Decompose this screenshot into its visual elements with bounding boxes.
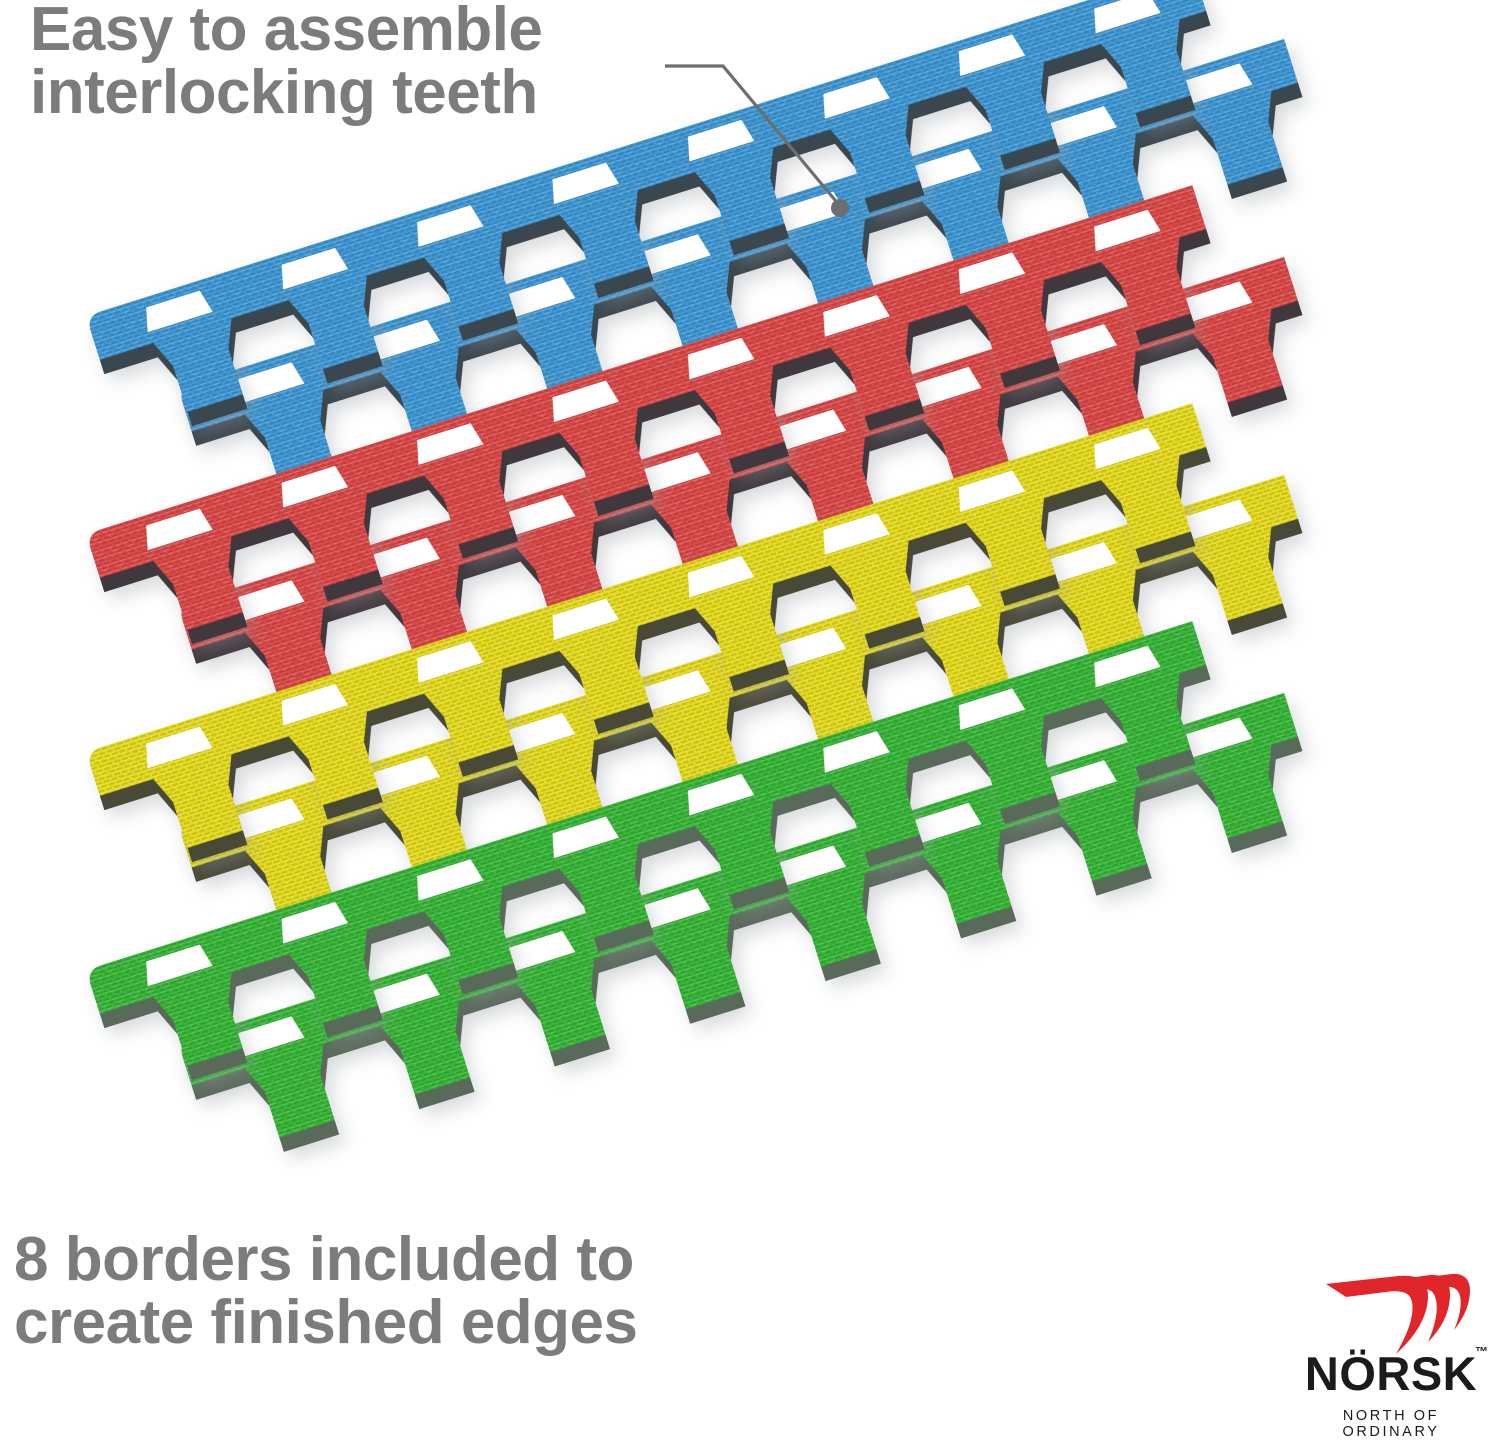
norsk-swoosh-icon — [1324, 1272, 1472, 1356]
infographic-canvas: Easy to assemble interlocking teeth 8 bo… — [0, 0, 1500, 1448]
foam-border-illustration — [0, 0, 1500, 1260]
swoosh-main — [1326, 1276, 1428, 1354]
norsk-tagline: NORTH OF ORDINARY — [1296, 1408, 1486, 1440]
headline-top: Easy to assemble interlocking teeth — [30, 0, 542, 124]
norsk-wordmark: NÖRSK — [1296, 1350, 1486, 1397]
norsk-logo: NÖRSK ™ NORTH OF ORDINARY — [1296, 1272, 1486, 1440]
trademark-symbol: ™ — [1475, 1344, 1488, 1359]
headline-bottom: 8 borders included to create finished ed… — [14, 1228, 638, 1354]
